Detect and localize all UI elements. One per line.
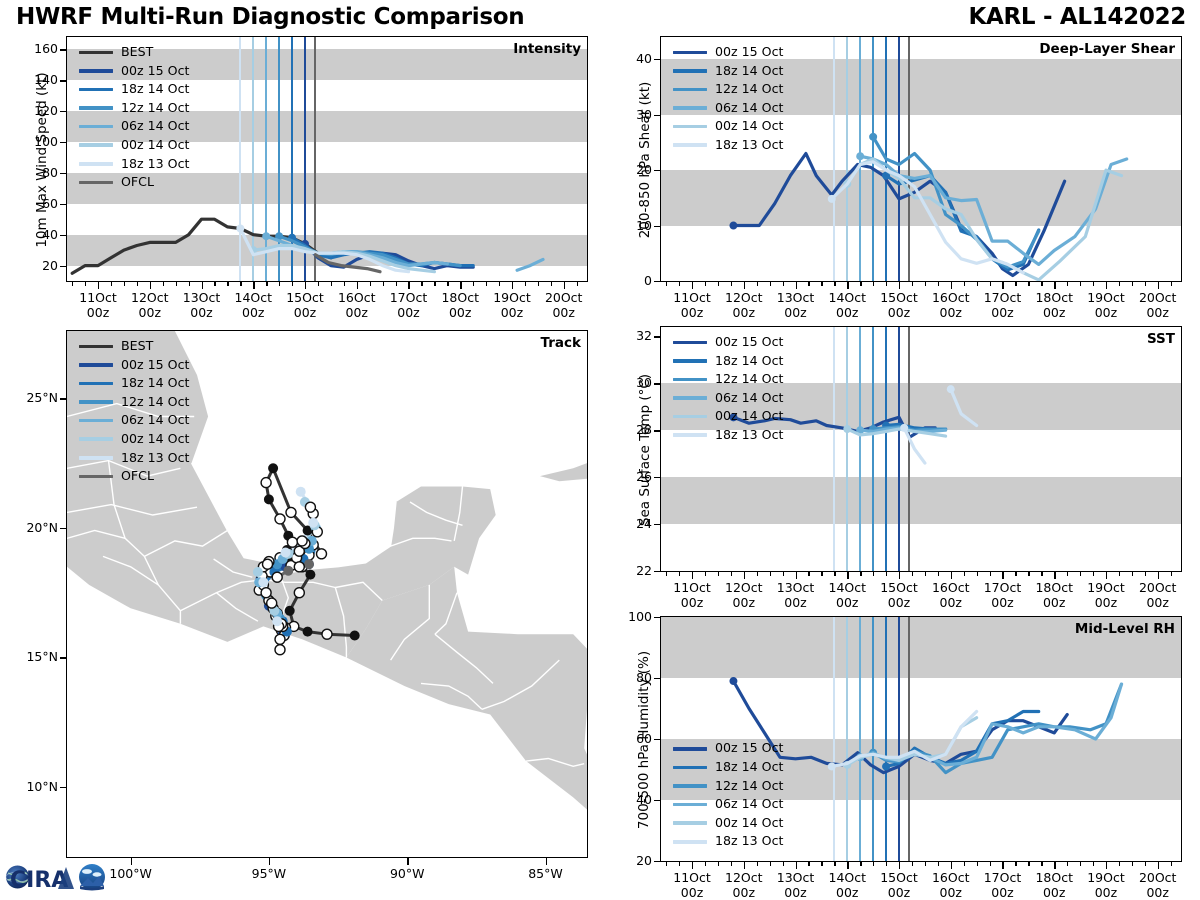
x-tickmark — [266, 282, 267, 286]
legend-swatch-00z-14-oct — [673, 125, 707, 129]
legend-label: 12z 14 Oct — [715, 370, 783, 389]
y-tick-label: 40 — [8, 227, 58, 242]
y-tickmark — [60, 204, 66, 205]
track-marker — [294, 562, 304, 572]
shear-legend-item-0[interactable]: 00z 15 Oct — [673, 43, 783, 62]
intensity-plot-area: Intensity BEST00z 15 Oct18z 14 Oct12z 14… — [66, 36, 588, 282]
legend-swatch-00z-15-oct — [673, 747, 707, 751]
x-tickmark — [421, 282, 422, 286]
x-tickmark — [447, 282, 448, 286]
y-tickmark — [654, 524, 660, 525]
x-tickmark — [1028, 282, 1029, 286]
legend-label: 18z 14 Oct — [715, 62, 783, 81]
x-tickmark — [873, 572, 874, 576]
x-tickmark — [1015, 282, 1016, 286]
legend-label: 18z 13 Oct — [715, 832, 783, 851]
x-tickmark — [860, 572, 861, 576]
init-marker — [262, 232, 270, 240]
x-tickmark — [964, 282, 965, 286]
x-tickmark — [150, 282, 151, 289]
x-tickmark — [783, 862, 784, 866]
x-tickmark — [705, 282, 706, 286]
x-tickmark — [318, 282, 319, 286]
shear-panel-title: Deep-Layer Shear — [1039, 41, 1175, 57]
landmass — [540, 463, 587, 481]
legend-label: 12z 14 Oct — [121, 393, 189, 412]
rh-legend-item-3[interactable]: 06z 14 Oct — [673, 795, 783, 814]
legend-swatch-12z-14-oct — [673, 378, 707, 382]
track-marker — [268, 463, 278, 473]
x-tickmark — [1028, 862, 1029, 866]
sst-legend-item-2[interactable]: 12z 14 Oct — [673, 370, 783, 389]
legend-label: 00z 14 Oct — [715, 407, 783, 426]
y-tickmark — [654, 336, 660, 337]
x-tickmark — [383, 282, 384, 286]
track-legend-item-6[interactable]: 18z 13 Oct — [79, 449, 189, 468]
x-tickmark — [873, 862, 874, 866]
track-lat-tickmark — [60, 528, 66, 529]
x-tickmark — [796, 282, 797, 289]
y-tickmark — [654, 739, 660, 740]
legend-label: 06z 14 Oct — [715, 99, 783, 118]
x-tickmark — [821, 282, 822, 286]
intensity-panel-title: Intensity — [513, 41, 581, 57]
intensity-legend-item-7[interactable]: OFCL — [79, 173, 189, 192]
track-marker — [267, 598, 277, 608]
x-tickmark — [990, 862, 991, 866]
x-tickmark — [847, 862, 848, 869]
track-legend-item-1[interactable]: 00z 15 Oct — [79, 356, 189, 375]
legend-label: 06z 14 Oct — [715, 389, 783, 408]
x-tickmark — [1093, 862, 1094, 866]
y-tick-label: 100 — [602, 609, 652, 624]
x-tickmark — [473, 282, 474, 286]
legend-label: OFCL — [121, 467, 154, 486]
sst-panel-title: SST — [1147, 331, 1175, 347]
legend-label: 18z 14 Oct — [121, 80, 189, 99]
track-marker — [350, 631, 360, 641]
x-tickmark — [873, 282, 874, 286]
legend-swatch-18z-13-oct — [79, 456, 113, 460]
x-tickmark — [731, 282, 732, 286]
legend-label: 18z 13 Oct — [715, 426, 783, 445]
legend-label: 06z 14 Oct — [715, 795, 783, 814]
track-lat-label: 20°N — [4, 520, 58, 535]
track-marker — [304, 559, 314, 569]
intensity-legend-item-3[interactable]: 12z 14 Oct — [79, 99, 189, 118]
legend-label: 00z 14 Oct — [121, 136, 189, 155]
track-marker — [263, 559, 273, 569]
x-tickmark — [744, 862, 745, 869]
x-tickmark — [1054, 862, 1055, 869]
x-tickmark — [731, 572, 732, 576]
x-tick-label: 20Oct00z — [1124, 580, 1192, 610]
x-tickmark — [72, 282, 73, 286]
legend-swatch-18z-14-oct — [673, 359, 707, 363]
x-tickmark — [821, 572, 822, 576]
y-tickmark — [654, 477, 660, 478]
y-tickmark — [654, 383, 660, 384]
track-lat-label: 10°N — [4, 779, 58, 794]
x-tickmark — [1002, 282, 1003, 289]
x-tickmark — [1041, 862, 1042, 866]
rh-legend: 00z 15 Oct18z 14 Oct12z 14 Oct06z 14 Oct… — [673, 739, 783, 851]
legend-label: 06z 14 Oct — [121, 411, 189, 430]
legend-swatch-12z-14-oct — [79, 400, 113, 404]
x-tickmark — [525, 282, 526, 286]
init-marker — [236, 224, 244, 232]
init-marker — [729, 677, 737, 685]
legend-swatch-18z-14-oct — [79, 88, 113, 92]
rh-plot-area: Mid-Level RH 00z 15 Oct18z 14 Oct12z 14 … — [660, 616, 1182, 862]
y-tickmark — [654, 861, 660, 862]
x-tickmark — [886, 282, 887, 286]
x-tickmark — [189, 282, 190, 286]
y-tick-label: 60 — [8, 196, 58, 211]
x-tickmark — [499, 282, 500, 286]
y-tickmark — [654, 170, 660, 171]
x-tickmark — [770, 572, 771, 576]
x-tickmark — [886, 862, 887, 866]
legend-swatch-18z-13-oct — [673, 840, 707, 844]
x-tickmark — [1106, 282, 1107, 289]
x-tickmark — [912, 572, 913, 576]
x-tickmark — [538, 282, 539, 286]
track-marker — [294, 588, 304, 598]
x-tickmark — [344, 282, 345, 286]
shear-plot-area: Deep-Layer Shear 00z 15 Oct18z 14 Oct12z… — [660, 36, 1182, 282]
track-legend-item-5[interactable]: 00z 14 Oct — [79, 430, 189, 449]
intensity-legend-item-2[interactable]: 18z 14 Oct — [79, 80, 189, 99]
y-tick-label: 20 — [602, 853, 652, 868]
x-tickmark — [666, 572, 667, 576]
y-tick-label: 10 — [602, 218, 652, 233]
legend-swatch-12z-14-oct — [673, 88, 707, 92]
init-marker — [828, 762, 836, 770]
track-marker — [322, 629, 332, 639]
rh-legend-item-5[interactable]: 18z 13 Oct — [673, 832, 783, 851]
x-tickmark — [98, 282, 99, 289]
x-tickmark — [692, 282, 693, 289]
track-marker — [285, 606, 295, 616]
shear-y-axis-label: 200-850 hPa Shear (kt) — [637, 40, 653, 280]
legend-label: 00z 15 Oct — [715, 333, 783, 352]
legend-label: 00z 14 Oct — [715, 814, 783, 833]
y-tickmark — [60, 49, 66, 50]
x-tickmark — [834, 862, 835, 866]
sst-plot-area: SST 00z 15 Oct18z 14 Oct12z 14 Oct06z 14… — [660, 326, 1182, 572]
x-tickmark — [834, 572, 835, 576]
track-marker — [308, 518, 318, 528]
track-panel-title: Track — [541, 335, 581, 351]
y-tickmark — [654, 571, 660, 572]
y-tickmark — [654, 115, 660, 116]
y-tick-label: 30 — [602, 107, 652, 122]
x-tickmark — [357, 282, 358, 289]
x-tick-label: 20Oct00z — [1124, 870, 1192, 900]
track-marker — [303, 627, 313, 637]
x-tickmark — [783, 282, 784, 286]
rh-legend-item-2[interactable]: 12z 14 Oct — [673, 777, 783, 796]
legend-label: 00z 15 Oct — [715, 43, 783, 62]
x-tickmark — [1041, 572, 1042, 576]
y-tickmark — [60, 111, 66, 112]
rh-legend-item-0[interactable]: 00z 15 Oct — [673, 739, 783, 758]
legend-label: 18z 13 Oct — [715, 136, 783, 155]
track-legend-item-4[interactable]: 06z 14 Oct — [79, 411, 189, 430]
legend-label: 18z 13 Oct — [121, 155, 189, 174]
sst-legend-item-5[interactable]: 18z 13 Oct — [673, 426, 783, 445]
y-tick-label: 0 — [602, 273, 652, 288]
x-tickmark — [951, 862, 952, 869]
x-tickmark — [1106, 572, 1107, 579]
x-tickmark — [666, 862, 667, 866]
x-tickmark — [1015, 862, 1016, 866]
x-tickmark — [679, 862, 680, 866]
legend-swatch-00z-15-oct — [79, 69, 113, 73]
x-tickmark — [460, 282, 461, 289]
x-tickmark — [1171, 282, 1172, 286]
legend-swatch-06z-14-oct — [79, 419, 113, 423]
x-tickmark — [214, 282, 215, 286]
init-marker — [843, 425, 851, 433]
x-tickmark — [163, 282, 164, 286]
track-legend: BEST00z 15 Oct18z 14 Oct12z 14 Oct06z 14… — [79, 337, 189, 486]
x-tickmark — [396, 282, 397, 286]
track-legend-item-2[interactable]: 18z 14 Oct — [79, 374, 189, 393]
x-tickmark — [1080, 282, 1081, 286]
track-marker — [317, 549, 327, 559]
legend-swatch-00z-14-oct — [673, 415, 707, 419]
track-lon-label: 100°W — [91, 866, 171, 881]
y-tick-label: 40 — [602, 792, 652, 807]
intensity-legend-item-0[interactable]: BEST — [79, 43, 189, 62]
track-lat-tickmark — [60, 787, 66, 788]
x-tickmark — [1171, 572, 1172, 576]
x-tickmark — [808, 572, 809, 576]
shear-legend-item-5[interactable]: 18z 13 Oct — [673, 136, 783, 155]
y-tickmark — [60, 173, 66, 174]
legend-label: OFCL — [121, 173, 154, 192]
x-tickmark — [111, 282, 112, 286]
init-marker — [900, 424, 908, 432]
intensity-legend-item-1[interactable]: 00z 15 Oct — [79, 62, 189, 81]
page-title: HWRF Multi-Run Diagnostic Comparison — [16, 4, 524, 30]
x-tickmark — [577, 282, 578, 286]
x-tickmark — [1080, 862, 1081, 866]
x-tickmark — [860, 282, 861, 286]
legend-label: 06z 14 Oct — [121, 117, 189, 136]
x-tickmark — [240, 282, 241, 286]
x-tickmark — [925, 282, 926, 286]
track-marker — [272, 572, 282, 582]
x-tickmark — [731, 862, 732, 866]
x-tickmark — [977, 572, 978, 576]
y-tickmark — [60, 142, 66, 143]
x-tickmark — [718, 862, 719, 866]
x-tickmark — [1119, 862, 1120, 866]
y-tickmark — [654, 226, 660, 227]
track-marker — [305, 570, 315, 580]
y-tick-label: 160 — [8, 41, 58, 56]
legend-swatch-ofcl — [79, 475, 113, 479]
intensity-legend-item-4[interactable]: 06z 14 Oct — [79, 117, 189, 136]
track-lat-tickmark — [60, 398, 66, 399]
rh-legend-item-4[interactable]: 00z 14 Oct — [673, 814, 783, 833]
legend-swatch-06z-14-oct — [79, 125, 113, 129]
x-tickmark — [292, 282, 293, 286]
legend-label: 18z 14 Oct — [121, 374, 189, 393]
landmass — [346, 567, 587, 857]
track-legend-item-3[interactable]: 12z 14 Oct — [79, 393, 189, 412]
legend-swatch-00z-14-oct — [79, 437, 113, 441]
track-marker — [275, 634, 285, 644]
y-tick-label: 140 — [8, 72, 58, 87]
intensity-legend: BEST00z 15 Oct18z 14 Oct12z 14 Oct06z 14… — [79, 43, 189, 192]
x-tickmark — [1158, 862, 1159, 869]
shear-legend-item-3[interactable]: 06z 14 Oct — [673, 99, 783, 118]
x-tickmark — [938, 572, 939, 576]
x-tickmark — [808, 862, 809, 866]
track-lon-label: 90°W — [367, 866, 447, 881]
x-tickmark — [925, 572, 926, 576]
y-tickmark — [60, 80, 66, 81]
storm-id-title: KARL - AL142022 — [968, 4, 1186, 30]
legend-swatch-00z-14-oct — [673, 821, 707, 825]
track-legend-item-7[interactable]: OFCL — [79, 467, 189, 486]
sst-legend-item-1[interactable]: 18z 14 Oct — [673, 352, 783, 371]
shear-legend-item-4[interactable]: 00z 14 Oct — [673, 117, 783, 136]
legend-label: 00z 15 Oct — [715, 739, 783, 758]
x-tickmark — [925, 862, 926, 866]
track-marker — [261, 478, 271, 488]
intensity-legend-item-5[interactable]: 00z 14 Oct — [79, 136, 189, 155]
y-tick-label: 120 — [8, 103, 58, 118]
y-tick-label: 26 — [602, 469, 652, 484]
x-tickmark — [990, 282, 991, 286]
init-marker — [869, 133, 877, 141]
y-tick-label: 24 — [602, 516, 652, 531]
legend-label: 00z 14 Oct — [121, 430, 189, 449]
intensity-legend-item-6[interactable]: 18z 13 Oct — [79, 155, 189, 174]
legend-swatch-18z-14-oct — [673, 766, 707, 770]
legend-swatch-best — [79, 345, 113, 349]
track-marker — [275, 514, 285, 524]
x-tickmark — [1028, 572, 1029, 576]
x-tickmark — [692, 862, 693, 869]
track-plot-area: Track BEST00z 15 Oct18z 14 Oct12z 14 Oct… — [66, 330, 588, 858]
legend-swatch-18z-14-oct — [673, 69, 707, 73]
y-tickmark — [654, 800, 660, 801]
y-tick-label: 28 — [602, 422, 652, 437]
track-marker — [283, 566, 293, 576]
x-tickmark — [757, 862, 758, 866]
shear-legend-item-2[interactable]: 12z 14 Oct — [673, 80, 783, 99]
sst-legend-item-4[interactable]: 00z 14 Oct — [673, 407, 783, 426]
legend-swatch-best — [79, 51, 113, 55]
x-tickmark — [679, 282, 680, 286]
sst-legend-item-0[interactable]: 00z 15 Oct — [673, 333, 783, 352]
y-tickmark — [60, 266, 66, 267]
track-marker — [297, 536, 307, 546]
legend-swatch-06z-14-oct — [673, 106, 707, 110]
track-marker — [258, 577, 268, 587]
x-tickmark — [964, 862, 965, 866]
y-tick-label: 80 — [602, 670, 652, 685]
x-tickmark — [1132, 282, 1133, 286]
x-tickmark — [1145, 862, 1146, 866]
x-tickmark — [705, 572, 706, 576]
y-tick-label: 40 — [602, 51, 652, 66]
x-tickmark — [834, 282, 835, 286]
y-tickmark — [654, 678, 660, 679]
track-marker — [281, 548, 291, 558]
x-tickmark — [1041, 282, 1042, 286]
x-tickmark — [551, 282, 552, 286]
x-tickmark — [821, 862, 822, 866]
rh-legend-item-1[interactable]: 18z 14 Oct — [673, 758, 783, 777]
legend-swatch-18z-13-oct — [673, 433, 707, 437]
x-tickmark — [85, 282, 86, 286]
sst-legend-item-3[interactable]: 06z 14 Oct — [673, 389, 783, 408]
x-tickmark — [808, 282, 809, 286]
legend-swatch-00z-14-oct — [79, 143, 113, 147]
legend-label: BEST — [121, 43, 153, 62]
shear-legend-item-1[interactable]: 18z 14 Oct — [673, 62, 783, 81]
x-tickmark — [202, 282, 203, 289]
x-tickmark — [705, 862, 706, 866]
x-tickmark — [434, 282, 435, 286]
x-tickmark — [1093, 572, 1094, 576]
x-tickmark — [912, 862, 913, 866]
x-tickmark — [1119, 282, 1120, 286]
legend-label: 18z 13 Oct — [121, 449, 189, 468]
x-tickmark — [1145, 572, 1146, 576]
x-tickmark — [744, 282, 745, 289]
legend-swatch-00z-15-oct — [673, 51, 707, 55]
legend-swatch-ofcl — [79, 181, 113, 185]
x-tickmark — [951, 572, 952, 579]
sst-y-axis-label: Sea Surface Temp (°C) — [637, 330, 653, 570]
track-marker — [253, 567, 263, 577]
x-tickmark — [1171, 862, 1172, 866]
y-tickmark — [654, 281, 660, 282]
x-tick-label: 20Oct00z — [530, 290, 598, 320]
x-tickmark — [692, 572, 693, 579]
track-lat-tickmark — [60, 657, 66, 658]
x-tickmark — [1158, 282, 1159, 289]
track-legend-item-0[interactable]: BEST — [79, 337, 189, 356]
track-lon-tickmark — [131, 858, 132, 865]
series-06z-14-oct — [860, 156, 1126, 264]
x-tickmark — [1080, 572, 1081, 576]
y-tick-label: 22 — [602, 563, 652, 578]
x-tickmark — [770, 862, 771, 866]
y-tick-label: 100 — [8, 134, 58, 149]
x-tickmark — [1054, 572, 1055, 579]
init-marker — [729, 222, 737, 230]
x-tickmark — [899, 282, 900, 289]
y-tick-label: 60 — [602, 731, 652, 746]
init-marker — [856, 152, 864, 160]
legend-label: BEST — [121, 337, 153, 356]
x-tickmark — [227, 282, 228, 286]
y-tick-label: 32 — [602, 328, 652, 343]
x-tickmark — [718, 282, 719, 286]
init-marker — [828, 195, 836, 203]
x-tickmark — [899, 572, 900, 579]
legend-swatch-06z-14-oct — [673, 803, 707, 807]
